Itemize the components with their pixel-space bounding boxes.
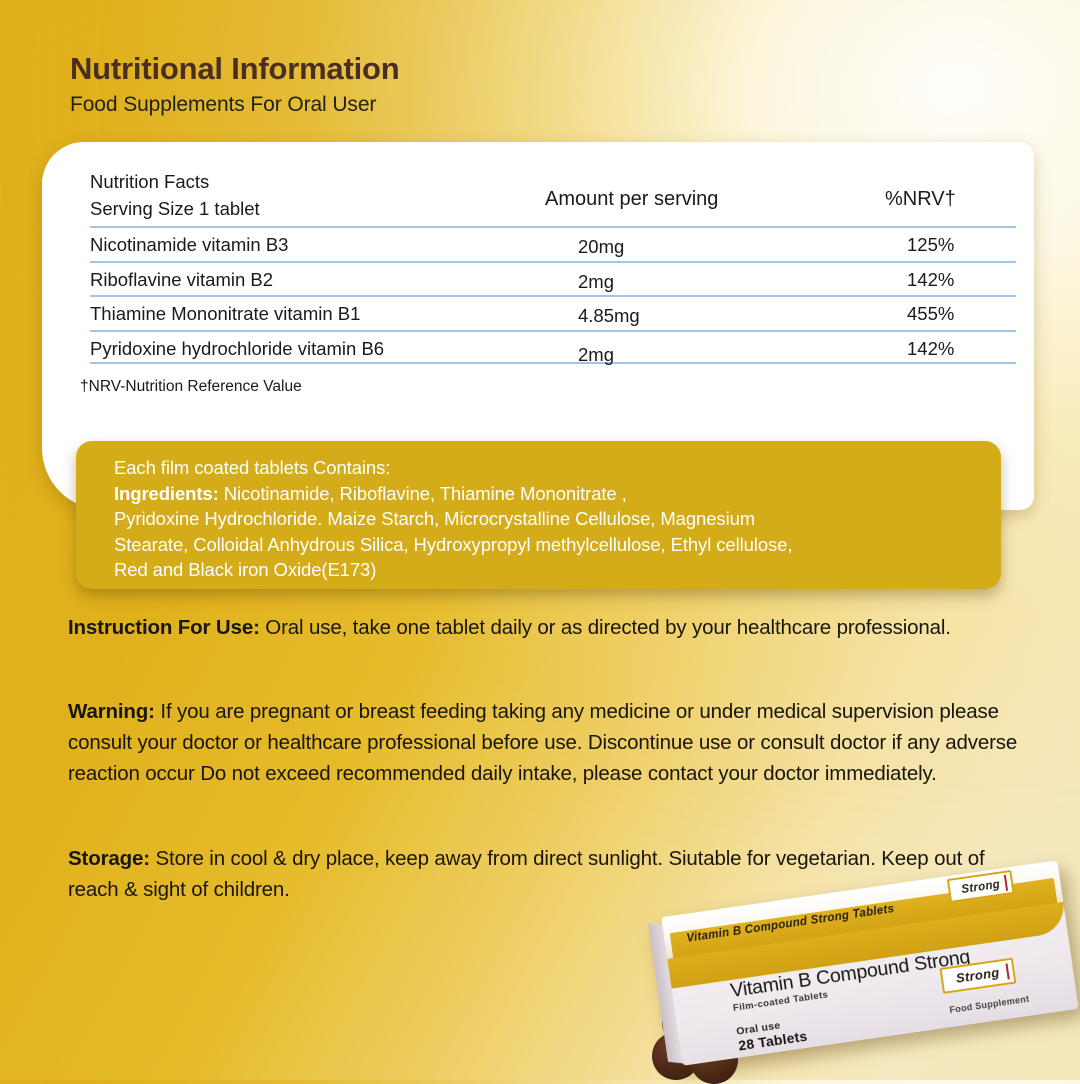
table-row: Pyridoxine hydrochloride vitamin B6 2mg … bbox=[90, 330, 1016, 365]
page-title: Nutritional Information bbox=[70, 52, 399, 87]
box-food-supplement-label: Food Supplement bbox=[949, 994, 1030, 1015]
nutrient-nrv: 455% bbox=[907, 303, 954, 325]
product-pack-image: Vitamin B Compound Strong Tablets Strong… bbox=[648, 888, 1080, 1080]
table-row: Nicotinamide vitamin B3 20mg 125% bbox=[90, 226, 1016, 261]
nutrient-nrv: 142% bbox=[907, 338, 954, 360]
nutrient-name: Nicotinamide vitamin B3 bbox=[90, 234, 288, 256]
table-body: Nicotinamide vitamin B3 20mg 125% Ribofl… bbox=[90, 226, 1016, 364]
storage-label: Storage: bbox=[68, 847, 150, 870]
ingredients-list-line-4: Red and Black iron Oxide(E173) bbox=[114, 557, 1001, 583]
nutrient-name: Pyridoxine hydrochloride vitamin B6 bbox=[90, 338, 384, 360]
table-header-row: Nutrition Facts Serving Size 1 tablet Am… bbox=[90, 168, 1016, 224]
strong-badge-top-label: Strong bbox=[961, 879, 1001, 896]
table-row: Riboflavine vitamin B2 2mg 142% bbox=[90, 261, 1016, 296]
nutrient-name: Riboflavine vitamin B2 bbox=[90, 269, 273, 291]
ingredients-contains-line: Each film coated tablets Contains: bbox=[114, 455, 1001, 481]
serving-size-label: Serving Size 1 tablet bbox=[90, 195, 260, 222]
nutrient-amount: 2mg bbox=[578, 271, 614, 293]
product-box: Vitamin B Compound Strong Tablets Strong… bbox=[661, 860, 1078, 1066]
table-row: Thiamine Mononitrate vitamin B1 4.85mg 4… bbox=[90, 295, 1016, 330]
ingredients-list-line-3: Stearate, Colloidal Anhydrous Silica, Hy… bbox=[114, 532, 1001, 558]
strong-badge-front-label: Strong bbox=[955, 965, 1000, 986]
table-header-nrv: %NRV† bbox=[885, 188, 956, 211]
ingredients-panel: Each film coated tablets Contains: Ingre… bbox=[76, 441, 1001, 589]
warning-section: Warning: If you are pregnant or breast f… bbox=[68, 696, 1023, 789]
nutrient-name: Thiamine Mononitrate vitamin B1 bbox=[90, 303, 360, 325]
ingredients-list-part-1: Nicotinamide, Riboflavine, Thiamine Mono… bbox=[219, 483, 627, 504]
instruction-text: Instruction For Use: Oral use, take one … bbox=[68, 612, 1023, 643]
ingredients-list-line-1: Ingredients: Nicotinamide, Riboflavine, … bbox=[114, 481, 1001, 507]
instruction-label: Instruction For Use: bbox=[68, 616, 260, 639]
nutrient-amount: 20mg bbox=[578, 236, 624, 258]
instruction-body: Oral use, take one tablet daily or as di… bbox=[260, 616, 951, 639]
ingredients-list-line-2: Pyridoxine Hydrochloride. Maize Starch, … bbox=[114, 506, 1001, 532]
nutrition-facts-label: Nutrition Facts bbox=[90, 168, 260, 195]
warning-text: Warning: If you are pregnant or breast f… bbox=[68, 696, 1023, 789]
nutrient-amount: 4.85mg bbox=[578, 305, 640, 327]
instruction-section: Instruction For Use: Oral use, take one … bbox=[68, 612, 1023, 643]
warning-body: If you are pregnant or breast feeding ta… bbox=[68, 700, 1017, 785]
table-header-left: Nutrition Facts Serving Size 1 tablet bbox=[90, 168, 260, 223]
table-header-amount: Amount per serving bbox=[545, 188, 718, 211]
nutrient-nrv: 142% bbox=[907, 269, 954, 291]
nutrient-nrv: 125% bbox=[907, 234, 954, 256]
warning-label: Warning: bbox=[68, 700, 155, 723]
nutrition-facts-table: Nutrition Facts Serving Size 1 tablet Am… bbox=[90, 168, 1016, 364]
page-subtitle: Food Supplements For Oral User bbox=[70, 93, 399, 117]
nrv-footnote: †NRV-Nutrition Reference Value bbox=[80, 378, 302, 396]
page-header: Nutritional Information Food Supplements… bbox=[70, 52, 399, 117]
ingredients-label: Ingredients: bbox=[114, 483, 219, 504]
nutrient-amount: 2mg bbox=[578, 344, 614, 366]
